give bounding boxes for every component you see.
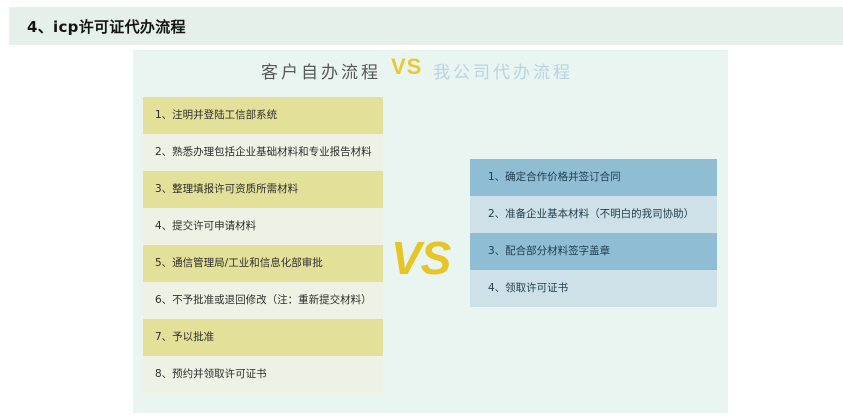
diagram-headings: 客户自办流程 VS 我公司代办流程 bbox=[133, 50, 728, 92]
flow-step-row: 3、整理填报许可资质所需材料 bbox=[143, 171, 383, 208]
page-title: 4、icp许可证代办流程 bbox=[27, 16, 186, 37]
comparison-diagram-panel: 客户自办流程 VS 我公司代办流程 1、注明并登陆工信部系统 2、熟悉办理包括企… bbox=[133, 50, 728, 413]
center-vs-label: VS bbox=[391, 235, 450, 281]
flow-step-row: 4、提交许可申请材料 bbox=[143, 208, 383, 245]
flow-step-row: 4、领取许可证书 bbox=[470, 270, 717, 307]
flow-step-row: 5、通信管理局/工业和信息化部审批 bbox=[143, 245, 383, 282]
flow-step-row: 2、熟悉办理包括企业基础材料和专业报告材料 bbox=[143, 134, 383, 171]
flow-step-row: 7、予以批准 bbox=[143, 319, 383, 356]
heading-customer-flow: 客户自办流程 bbox=[261, 58, 381, 83]
flow-step-row: 6、不予批准或退回修改（注：重新提交材料） bbox=[143, 282, 383, 319]
heading-vs-label: VS bbox=[391, 54, 422, 80]
customer-flow-column: 1、注明并登陆工信部系统 2、熟悉办理包括企业基础材料和专业报告材料 3、整理填… bbox=[143, 97, 383, 393]
flow-step-row: 2、准备企业基本材料（不明白的我司协助） bbox=[470, 196, 717, 233]
flow-step-row: 8、预约并领取许可证书 bbox=[143, 356, 383, 393]
flow-step-row: 1、确定合作价格并签订合同 bbox=[470, 159, 717, 196]
flow-step-row: 1、注明并登陆工信部系统 bbox=[143, 97, 383, 134]
heading-agency-flow: 我公司代办流程 bbox=[433, 58, 573, 83]
flow-step-row: 3、配合部分材料签字盖章 bbox=[470, 233, 717, 270]
agency-flow-column: 1、确定合作价格并签订合同 2、准备企业基本材料（不明白的我司协助） 3、配合部… bbox=[470, 159, 717, 307]
page-header-bar: 4、icp许可证代办流程 bbox=[9, 7, 843, 45]
